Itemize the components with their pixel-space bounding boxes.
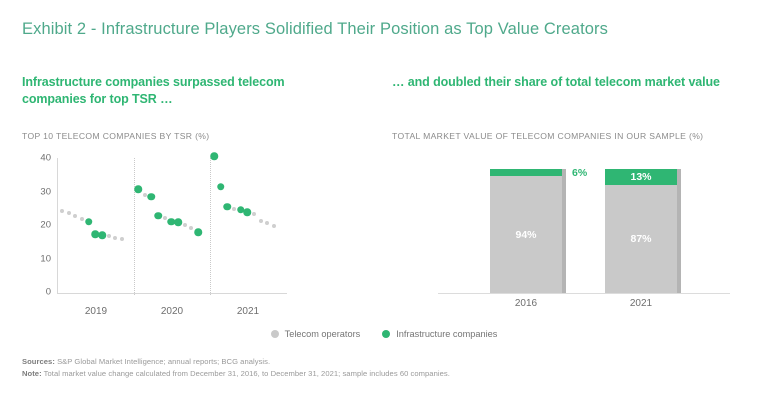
- scatter-point: [252, 212, 256, 216]
- bar-value-label: 6%: [572, 167, 587, 179]
- scatter-point: [163, 216, 167, 220]
- bar-chart: 6%94%201613%87%2021: [420, 150, 740, 312]
- bar-x-label: 2016: [515, 298, 537, 309]
- scatter-x-label: 2021: [237, 306, 259, 317]
- scatter-point: [134, 186, 142, 194]
- scatter-point: [85, 218, 93, 226]
- scatter-point: [189, 226, 193, 230]
- left-panel-axis-caption: TOP 10 TELECOM COMPANIES BY TSR (%): [22, 131, 210, 141]
- footnotes: Sources: S&P Global Market Intelligence;…: [22, 356, 450, 380]
- chart-legend: Telecom operatorsInfrastructure companie…: [0, 329, 768, 339]
- scatter-point: [217, 183, 225, 191]
- legend-item[interactable]: Infrastructure companies: [382, 329, 497, 339]
- bar-edge-shadow: [562, 169, 566, 293]
- scatter-point: [143, 193, 147, 197]
- scatter-point: [224, 203, 232, 211]
- bar-group: 6%94%: [490, 169, 562, 293]
- scatter-x-label: 2020: [161, 306, 183, 317]
- scatter-y-tick: 20: [40, 220, 51, 231]
- bar-group: 13%87%: [605, 169, 677, 293]
- stacked-bar: 13%87%: [605, 169, 677, 293]
- scatter-point: [120, 237, 124, 241]
- footnote-line: Note: Total market value change calculat…: [22, 368, 450, 380]
- scatter-point: [113, 236, 117, 240]
- left-panel-heading: Infrastructure companies surpassed telec…: [22, 74, 352, 108]
- scatter-point: [272, 224, 276, 228]
- scatter-y-tick: 30: [40, 186, 51, 197]
- bar-chart-plot-area: 6%94%201613%87%2021: [420, 150, 740, 312]
- scatter-y-tick: 0: [46, 287, 51, 298]
- scatter-point: [67, 211, 71, 215]
- scatter-chart: 010203040201920202021: [20, 150, 292, 312]
- scatter-plot-area: 010203040201920202021: [58, 158, 286, 292]
- bar-value-label: 87%: [630, 233, 651, 245]
- scatter-point: [154, 212, 162, 220]
- bar-segment-telecom: 87%: [605, 185, 677, 293]
- scatter-point: [232, 207, 236, 211]
- scatter-point: [148, 193, 156, 201]
- scatter-group-divider: [134, 158, 135, 295]
- bar-segment-infrastructure: [490, 169, 562, 176]
- right-panel-axis-caption: TOTAL MARKET VALUE OF TELECOM COMPANIES …: [392, 131, 703, 141]
- scatter-group-divider: [210, 158, 211, 295]
- scatter-point: [80, 217, 84, 221]
- footnote-label: Sources:: [22, 357, 55, 366]
- bar-x-label: 2021: [630, 298, 652, 309]
- bar-segment-telecom: 94%: [490, 176, 562, 293]
- scatter-y-tick: 40: [40, 153, 51, 164]
- bar-value-label: 13%: [630, 171, 651, 183]
- circle-dot-icon: [271, 330, 279, 338]
- scatter-point: [73, 214, 77, 218]
- legend-label: Telecom operators: [285, 329, 361, 339]
- bar-edge-shadow: [677, 169, 681, 293]
- scatter-point: [194, 229, 202, 237]
- footnote-line: Sources: S&P Global Market Intelligence;…: [22, 356, 450, 368]
- scatter-point: [259, 219, 263, 223]
- scatter-point: [98, 231, 106, 239]
- bar-value-label: 94%: [515, 229, 536, 241]
- scatter-point: [107, 234, 111, 238]
- scatter-point: [244, 209, 252, 217]
- scatter-y-tick: 10: [40, 253, 51, 264]
- circle-dot-icon: [382, 330, 390, 338]
- footnote-label: Note:: [22, 369, 42, 378]
- scatter-x-label: 2019: [85, 306, 107, 317]
- legend-label: Infrastructure companies: [396, 329, 497, 339]
- scatter-point: [265, 221, 269, 225]
- scatter-point: [174, 219, 182, 227]
- scatter-point: [210, 153, 218, 161]
- exhibit-page: Exhibit 2 - Infrastructure Players Solid…: [0, 0, 768, 402]
- bar-segment-infrastructure: 13%: [605, 169, 677, 185]
- scatter-x-axis-line: [57, 293, 287, 294]
- legend-item[interactable]: Telecom operators: [271, 329, 361, 339]
- stacked-bar: 6%94%: [490, 169, 562, 293]
- scatter-point: [183, 223, 187, 227]
- scatter-point: [60, 209, 64, 213]
- right-panel-heading: … and doubled their share of total telec…: [392, 74, 722, 91]
- page-title: Exhibit 2 - Infrastructure Players Solid…: [22, 20, 608, 39]
